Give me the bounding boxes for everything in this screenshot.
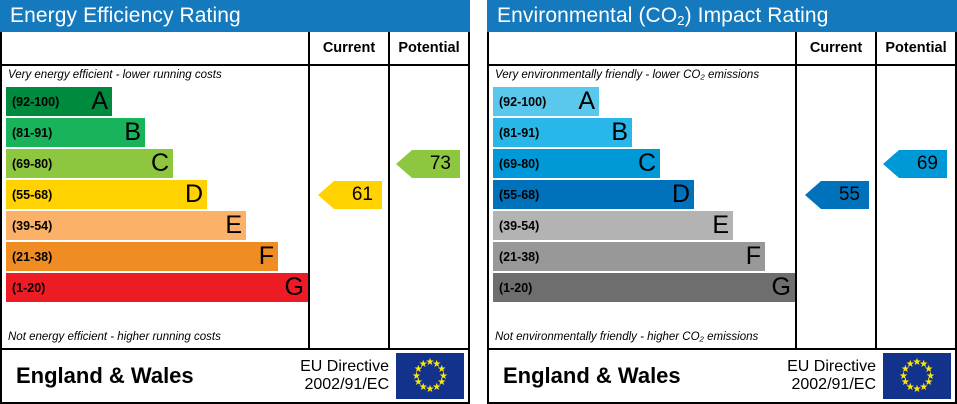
footer-region-label: England & Wales <box>2 363 300 389</box>
potential-value-column-environmental: 69 <box>875 66 955 348</box>
energy-efficiency-rating-panel: Energy Efficiency Rating Current Potenti… <box>0 0 470 404</box>
band-letter-label: C <box>151 151 169 176</box>
rating-grid-energy: Current Potential Very energy efficient … <box>0 32 470 404</box>
band-bar-d: (55-68)D <box>6 180 207 209</box>
band-bar-f: (21-38)F <box>493 242 765 271</box>
eu-flag-icon: ★★★★★★★★★★★★ <box>396 353 464 399</box>
band-range-label: (1-20) <box>493 281 532 295</box>
band-letter-label: E <box>225 213 242 238</box>
header-blank-cell <box>489 32 795 64</box>
band-range-label: (92-100) <box>493 95 546 109</box>
potential-rating-arrow: 69 <box>883 150 947 178</box>
band-letter-label: D <box>672 182 690 207</box>
environmental-impact-rating-panel: Environmental (CO2) Impact Rating Curren… <box>487 0 957 404</box>
footer-region-label: England & Wales <box>489 363 787 389</box>
panel-title-text: Energy Efficiency Rating <box>10 4 241 27</box>
current-rating-arrow: 55 <box>805 181 869 209</box>
current-rating-arrow: 61 <box>318 181 382 209</box>
band-letter-label: G <box>772 275 791 300</box>
header-blank-cell <box>2 32 308 64</box>
caption-bottom-environmental: Not environmentally friendly - higher CO… <box>489 329 758 348</box>
band-letter-label: F <box>259 244 274 269</box>
band-bar-a: (92-100)A <box>6 87 112 116</box>
band-range-label: (21-38) <box>493 250 539 264</box>
eu-flag-icon: ★★★★★★★★★★★★ <box>883 353 951 399</box>
potential-value-column-energy: 73 <box>388 66 468 348</box>
eu-flag-star-icon: ★ <box>419 360 428 369</box>
rating-band-e: (39-54)E <box>489 210 795 241</box>
band-range-label: (21-38) <box>6 250 52 264</box>
rating-band-c: (69-80)C <box>489 148 795 179</box>
band-bar-g: (1-20)G <box>493 273 795 302</box>
band-range-label: (69-80) <box>493 157 539 171</box>
rating-band-a: (92-100)A <box>489 86 795 117</box>
rating-grid-environmental: Current Potential Very environmentally f… <box>487 32 957 404</box>
band-bar-b: (81-91)B <box>6 118 145 147</box>
band-list-environmental: (92-100)A(81-91)B(69-80)C(55-68)D(39-54)… <box>489 86 795 303</box>
panel-title-environmental: Environmental (CO2) Impact Rating <box>487 0 957 32</box>
band-bar-c: (69-80)C <box>6 149 173 178</box>
footer-directive-label: EU Directive 2002/91/EC <box>300 358 396 395</box>
rating-band-b: (81-91)B <box>2 117 308 148</box>
band-letter-label: C <box>638 151 656 176</box>
rating-band-a: (92-100)A <box>2 86 308 117</box>
band-range-label: (69-80) <box>6 157 52 171</box>
band-letter-label: G <box>285 275 304 300</box>
eu-flag-star-icon: ★ <box>906 360 915 369</box>
band-letter-label: F <box>746 244 761 269</box>
rating-band-b: (81-91)B <box>489 117 795 148</box>
epc-rating-charts: Energy Efficiency Rating Current Potenti… <box>0 0 957 404</box>
rating-band-g: (1-20)G <box>489 272 795 303</box>
rating-band-c: (69-80)C <box>2 148 308 179</box>
table-body-row: Very environmentally friendly - lower CO… <box>489 66 955 350</box>
band-bar-c: (69-80)C <box>493 149 660 178</box>
band-bar-e: (39-54)E <box>6 211 246 240</box>
band-bar-b: (81-91)B <box>493 118 632 147</box>
table-header-row: Current Potential <box>2 32 468 66</box>
potential-rating-arrow: 73 <box>396 150 460 178</box>
band-bar-a: (92-100)A <box>493 87 599 116</box>
directive-line-2: 2002/91/EC <box>300 376 389 394</box>
rating-band-d: (55-68)D <box>2 179 308 210</box>
caption-bottom-energy: Not energy efficient - higher running co… <box>2 329 221 348</box>
band-range-label: (39-54) <box>6 219 52 233</box>
band-range-label: (39-54) <box>493 219 539 233</box>
band-bar-f: (21-38)F <box>6 242 278 271</box>
directive-line-1: EU Directive <box>300 358 389 376</box>
header-current: Current <box>795 32 875 64</box>
band-letter-label: D <box>185 182 203 207</box>
band-range-label: (1-20) <box>6 281 45 295</box>
panel-title-text: Environmental (CO <box>497 4 677 27</box>
header-current: Current <box>308 32 388 64</box>
band-bar-e: (39-54)E <box>493 211 733 240</box>
band-letter-label: A <box>91 89 108 114</box>
band-range-label: (55-68) <box>6 188 52 202</box>
co2-subscript: 2 <box>677 13 684 28</box>
current-value-column-energy: 61 <box>308 66 388 348</box>
band-bar-g: (1-20)G <box>6 273 308 302</box>
band-letter-label: E <box>712 213 729 238</box>
band-letter-label: A <box>578 89 595 114</box>
rating-band-e: (39-54)E <box>2 210 308 241</box>
table-header-row: Current Potential <box>489 32 955 66</box>
footer-energy: England & Wales EU Directive 2002/91/EC … <box>2 350 468 402</box>
band-bar-d: (55-68)D <box>493 180 694 209</box>
current-value-column-environmental: 55 <box>795 66 875 348</box>
bands-column-energy: Very energy efficient - lower running co… <box>2 66 308 348</box>
caption-top-energy: Very energy efficient - lower running co… <box>2 66 308 86</box>
band-letter-label: B <box>124 120 141 145</box>
band-range-label: (81-91) <box>493 126 539 140</box>
bands-column-environmental: Very environmentally friendly - lower CO… <box>489 66 795 348</box>
caption-top-environmental: Very environmentally friendly - lower CO… <box>489 66 795 86</box>
directive-line-2: 2002/91/EC <box>787 376 876 394</box>
panel-title-text-suffix: ) Impact Rating <box>685 4 829 27</box>
rating-band-f: (21-38)F <box>489 241 795 272</box>
rating-band-d: (55-68)D <box>489 179 795 210</box>
header-potential: Potential <box>875 32 955 64</box>
panel-title-energy: Energy Efficiency Rating <box>0 0 470 32</box>
table-body-row: Very energy efficient - lower running co… <box>2 66 468 350</box>
band-range-label: (55-68) <box>493 188 539 202</box>
header-potential: Potential <box>388 32 468 64</box>
footer-environmental: England & Wales EU Directive 2002/91/EC … <box>489 350 955 402</box>
directive-line-1: EU Directive <box>787 358 876 376</box>
band-range-label: (81-91) <box>6 126 52 140</box>
rating-band-g: (1-20)G <box>2 272 308 303</box>
band-range-label: (92-100) <box>6 95 59 109</box>
band-letter-label: B <box>611 120 628 145</box>
footer-directive-label: EU Directive 2002/91/EC <box>787 358 883 395</box>
band-list-energy: (92-100)A(81-91)B(69-80)C(55-68)D(39-54)… <box>2 86 308 303</box>
rating-band-f: (21-38)F <box>2 241 308 272</box>
